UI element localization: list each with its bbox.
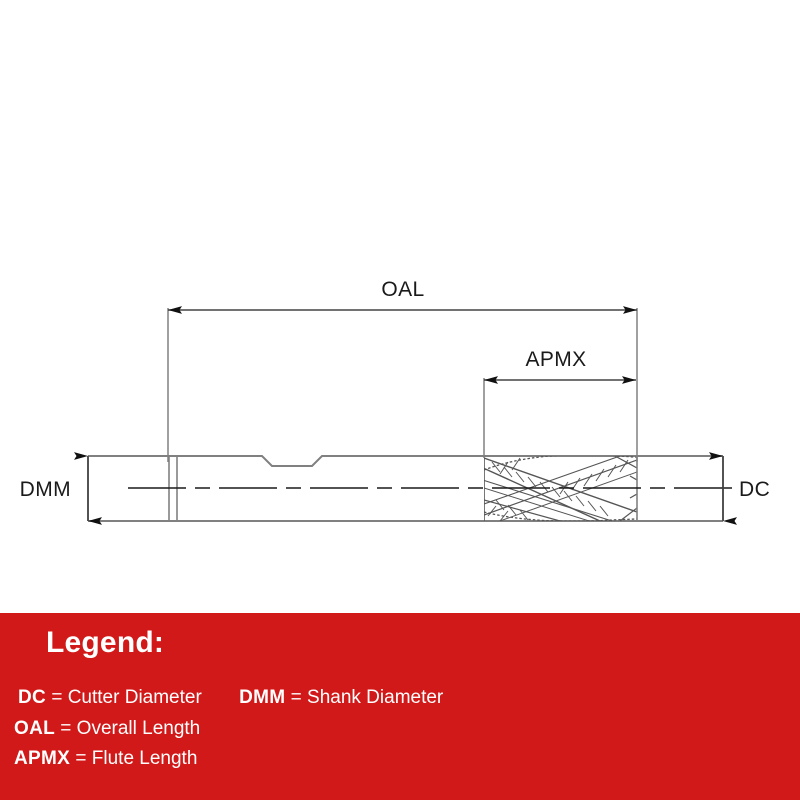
page-root: OAL APMX DMM DC Legend: DC <box>0 0 800 800</box>
dmm-label: DMM <box>20 478 71 501</box>
legend-row: APMX = Flute Length <box>14 749 197 770</box>
legend-entry-dmm: DMM = Shank Diameter <box>239 688 443 709</box>
dc-label: DC <box>739 478 770 501</box>
drawing-canvas: OAL APMX DMM DC <box>0 0 800 613</box>
dimension-dmm: DMM <box>20 456 88 521</box>
legend-equals: = <box>75 748 91 769</box>
legend-title: Legend: <box>46 626 164 660</box>
legend-entry-oal: OAL = Overall Length <box>14 719 200 740</box>
legend-entry-dc: DC = Cutter Diameter <box>18 688 202 709</box>
legend-code-dc: DC <box>18 687 46 708</box>
legend-row: DC = Cutter Diameter DMM = Shank Diamete… <box>18 688 443 709</box>
dimension-apmx: APMX <box>484 348 636 458</box>
legend-equals: = <box>60 718 76 739</box>
legend-panel: Legend: DC = Cutter Diameter DMM = Shank… <box>0 613 800 800</box>
legend-equals: = <box>291 687 307 708</box>
legend-description-apmx: Flute Length <box>92 748 198 769</box>
oal-label: OAL <box>381 278 424 301</box>
legend-description-dc: Cutter Diameter <box>68 687 202 708</box>
legend-entry-apmx: APMX = Flute Length <box>14 749 197 770</box>
legend-code-dmm: DMM <box>239 687 285 708</box>
apmx-label: APMX <box>525 348 586 371</box>
legend-code-apmx: APMX <box>14 748 70 769</box>
legend-equals: = <box>51 687 67 708</box>
legend-description-oal: Overall Length <box>77 718 201 739</box>
legend-row: OAL = Overall Length <box>14 719 200 740</box>
technical-drawing: OAL APMX DMM DC <box>0 0 800 613</box>
legend-code-oal: OAL <box>14 718 55 739</box>
helical-flute-section <box>470 455 660 536</box>
legend-description-dmm: Shank Diameter <box>307 687 443 708</box>
